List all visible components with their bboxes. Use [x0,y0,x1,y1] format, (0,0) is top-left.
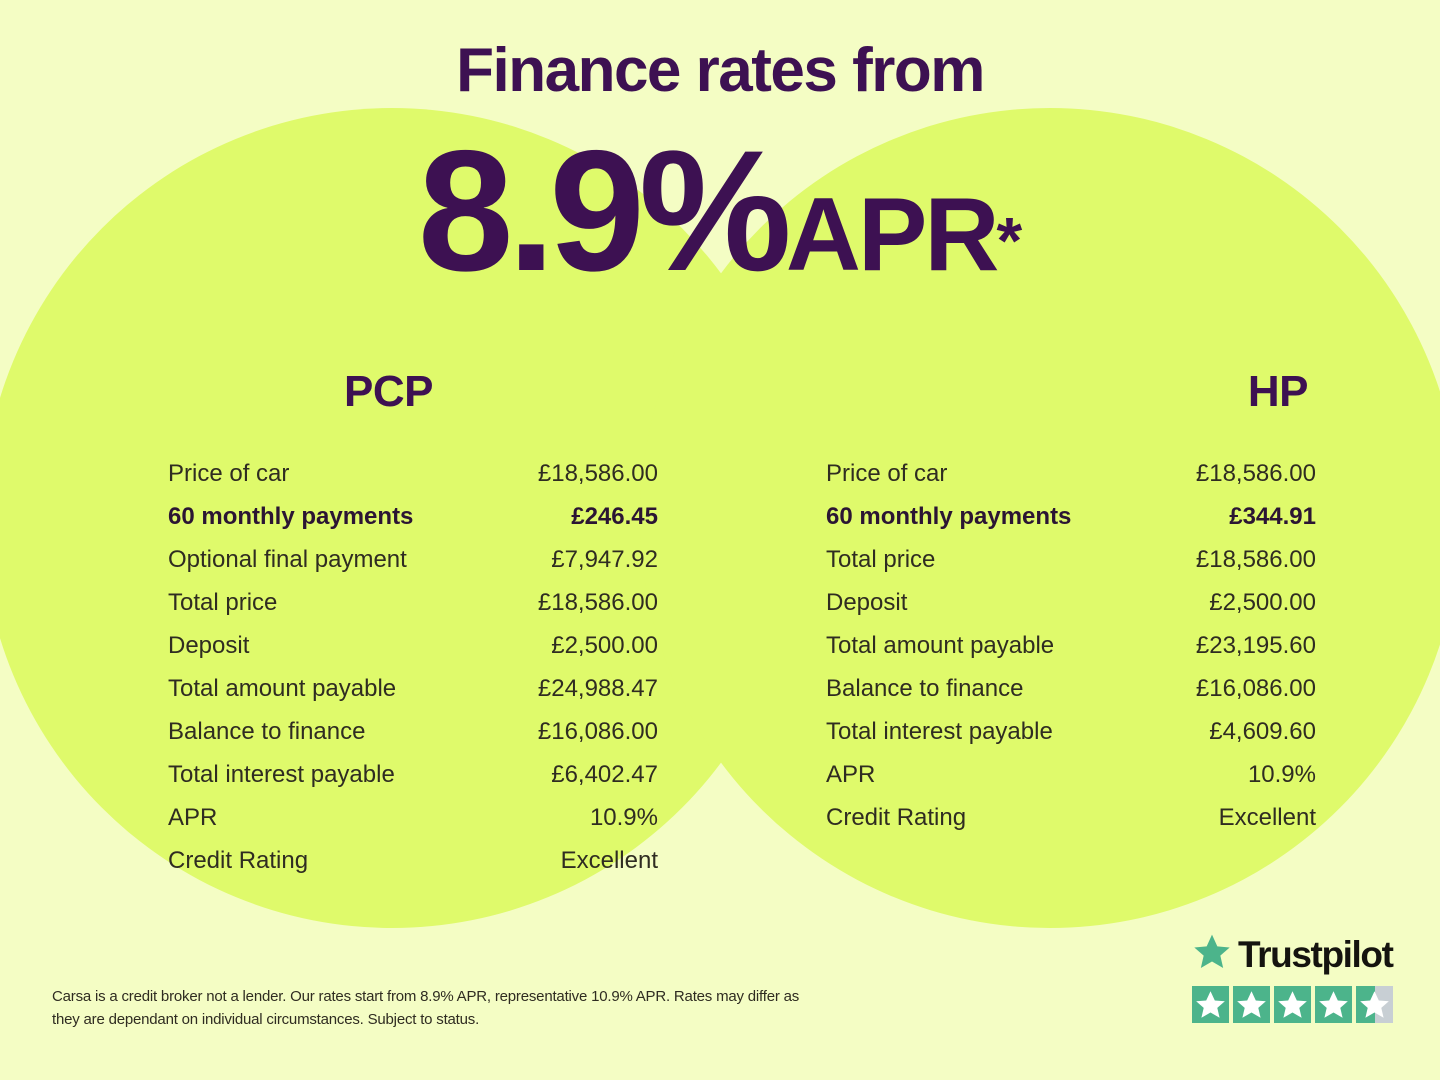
table-row: Deposit£2,500.00 [168,632,658,675]
row-value: £16,086.00 [538,718,658,746]
row-label: Total price [168,589,277,617]
row-value: £2,500.00 [551,632,658,660]
row-label: Total interest payable [826,718,1053,746]
row-value: Excellent [1219,804,1316,832]
row-label: Balance to finance [168,718,365,746]
trustpilot-wordmark: Trustpilot [1192,930,1402,978]
trustpilot-star-icon [1192,932,1232,977]
row-value: £6,402.47 [551,761,658,789]
row-label: Credit Rating [168,847,308,875]
table-row: Optional final payment£7,947.92 [168,546,658,589]
plan-column-pcp: PCP Price of car£18,586.0060 monthly pay… [168,370,658,890]
table-row: Total price£18,586.00 [168,589,658,632]
table-row: Total amount payable£23,195.60 [826,632,1316,675]
table-row: 60 monthly payments£246.45 [168,503,658,546]
table-row: Price of car£18,586.00 [826,460,1316,503]
row-label: APR [168,804,217,832]
row-label: 60 monthly payments [826,503,1071,531]
row-value: £18,586.00 [538,589,658,617]
row-value: £4,609.60 [1209,718,1316,746]
row-value: £23,195.60 [1196,632,1316,660]
row-value: £18,586.00 [1196,460,1316,488]
table-row: Total amount payable£24,988.47 [168,675,658,718]
content-layer: Finance rates from 8.9%APR* PCP Price of… [0,0,1440,1080]
row-label: Total amount payable [826,632,1054,660]
row-value: £344.91 [1229,503,1316,531]
table-row: Price of car£18,586.00 [168,460,658,503]
trustpilot-star-1 [1192,986,1229,1023]
table-row: Total interest payable£6,402.47 [168,761,658,804]
page-title: Finance rates from [0,40,1440,102]
row-value: 10.9% [590,804,658,832]
row-label: Deposit [168,632,249,660]
row-label: APR [826,761,875,789]
row-value: £2,500.00 [1209,589,1316,617]
plan-column-hp: HP Price of car£18,586.0060 monthly paym… [826,370,1316,847]
table-row: Credit RatingExcellent [168,847,658,890]
row-label: Credit Rating [826,804,966,832]
rate-footnote-marker: * [996,204,1022,278]
trustpilot-star-5 [1356,986,1393,1023]
rate-value: 8.9% [418,115,786,307]
row-label: Deposit [826,589,907,617]
row-value: 10.9% [1248,761,1316,789]
trustpilot-widget[interactable]: Trustpilot [1192,930,1402,1023]
row-label: Price of car [168,460,289,488]
finance-rates-poster: Finance rates from 8.9%APR* PCP Price of… [0,0,1440,1080]
table-row: APR10.9% [168,804,658,847]
row-label: Optional final payment [168,546,407,574]
row-value: £18,586.00 [538,460,658,488]
plan-title-pcp: PCP [168,370,658,414]
row-label: Total price [826,546,935,574]
row-label: 60 monthly payments [168,503,413,531]
row-value: £24,988.47 [538,675,658,703]
trustpilot-star-2 [1233,986,1270,1023]
row-label: Balance to finance [826,675,1023,703]
table-row: Balance to finance£16,086.00 [826,675,1316,718]
row-label: Total amount payable [168,675,396,703]
plan-rows-pcp: Price of car£18,586.0060 monthly payment… [168,460,658,890]
row-value: Excellent [561,847,658,875]
table-row: APR10.9% [826,761,1316,804]
trustpilot-star-4 [1315,986,1352,1023]
row-label: Price of car [826,460,947,488]
plan-title-hp: HP [826,370,1316,414]
table-row: Balance to finance£16,086.00 [168,718,658,761]
table-row: Deposit£2,500.00 [826,589,1316,632]
table-row: Credit RatingExcellent [826,804,1316,847]
trustpilot-rating-stars [1192,986,1402,1023]
trustpilot-star-3 [1274,986,1311,1023]
table-row: Total price£18,586.00 [826,546,1316,589]
row-label: Total interest payable [168,761,395,789]
table-row: Total interest payable£4,609.60 [826,718,1316,761]
trustpilot-name: Trustpilot [1238,936,1393,973]
row-value: £7,947.92 [551,546,658,574]
table-row: 60 monthly payments£344.91 [826,503,1316,546]
row-value: £18,586.00 [1196,546,1316,574]
rate-unit: APR [786,177,997,293]
headline-rate: 8.9%APR* [0,125,1440,297]
plan-rows-hp: Price of car£18,586.0060 monthly payment… [826,460,1316,847]
disclaimer-text: Carsa is a credit broker not a lender. O… [52,985,812,1032]
row-value: £246.45 [571,503,658,531]
row-value: £16,086.00 [1196,675,1316,703]
